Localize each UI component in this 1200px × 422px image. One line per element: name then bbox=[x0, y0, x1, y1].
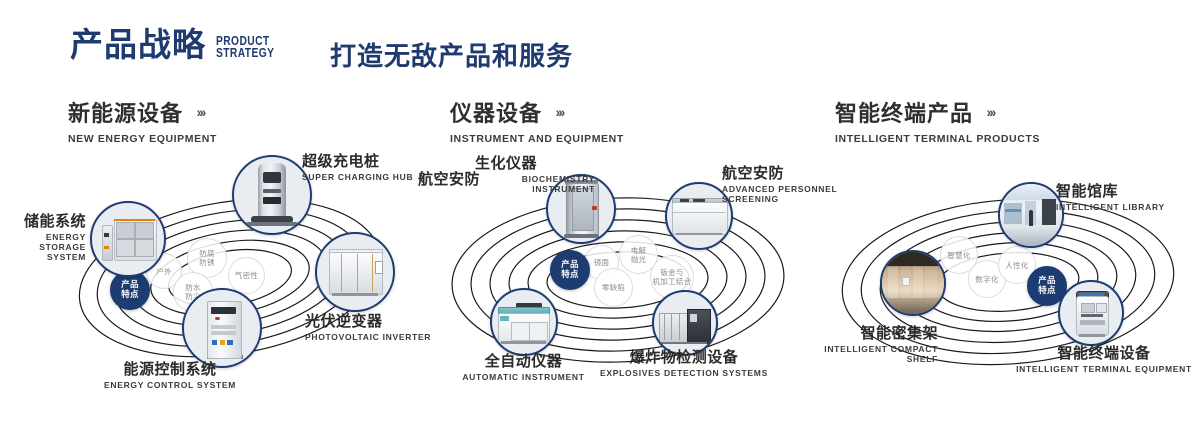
page-subtitle: 打造无敌产品和服务 bbox=[330, 36, 573, 73]
node-intelligent-terminal-equipment[interactable] bbox=[1058, 280, 1124, 346]
product-strategy-infographic: 产品战略 PRODUCT STRATEGY 打造无敌产品和服务 新能源设备 ››… bbox=[0, 0, 1200, 422]
section-title-en: INSTRUMENT AND EQUIPMENT bbox=[450, 133, 624, 145]
caption-en: EXPLOSIVES DETECTION SYSTEMS bbox=[588, 368, 780, 378]
node-super-charging-hub[interactable] bbox=[232, 155, 312, 235]
chevrons-right-icon: ››› bbox=[196, 104, 204, 120]
core-feature-bubble: 产品 特点 bbox=[550, 250, 590, 290]
node-photovoltaic-inverter[interactable] bbox=[315, 232, 395, 312]
node-energy-storage-system[interactable] bbox=[90, 201, 166, 277]
section-title-en: INTELLIGENT TERMINAL PRODUCTS bbox=[835, 133, 1040, 145]
caption-aviation-security-left: 航空安防 bbox=[400, 168, 480, 189]
page-title-cn: 产品战略 bbox=[70, 28, 206, 61]
caption-biochemistry-instrument: 生化仪器 BIOCHEMISTRY INSTRUMENT bbox=[475, 152, 595, 194]
section-title-intelligent-terminal: 智能终端产品 ››› INTELLIGENT TERMINAL PRODUCTS bbox=[835, 96, 1040, 145]
diagram-new-energy: 防腐 防锈 户外 防水 防尘 气密性 产品 特点 储能系统 ENERGY STO… bbox=[40, 150, 420, 412]
caption-intelligent-terminal-equipment: 智能终端设备 INTELLIGENT TERMINAL EQUIPMENT bbox=[1008, 342, 1200, 374]
feature-bubble: 气密性 bbox=[228, 257, 265, 294]
charging-pile-icon bbox=[234, 157, 310, 233]
caption-intelligent-compact-shelf: 智能密集架 INTELLIGENT COMPACT SHELF bbox=[808, 322, 938, 364]
caption-en: ENERGY STORAGE SYSTEM bbox=[0, 232, 86, 262]
caption-intelligent-library: 智能馆库 INTELLIGENT LIBRARY bbox=[1056, 180, 1200, 212]
caption-en: ENERGY CONTROL SYSTEM bbox=[80, 380, 260, 390]
explosives-detector-icon bbox=[654, 292, 716, 354]
caption-en: INTELLIGENT COMPACT SHELF bbox=[808, 344, 938, 364]
caption-en: INTELLIGENT LIBRARY bbox=[1056, 202, 1200, 212]
caption-explosives-detection-systems: 爆炸物检测设备 EXPLOSIVES DETECTION SYSTEMS bbox=[588, 346, 780, 378]
node-intelligent-library[interactable] bbox=[998, 182, 1064, 248]
caption-cn: 爆炸物检测设备 bbox=[588, 346, 780, 367]
caption-cn: 能源控制系统 bbox=[80, 358, 260, 379]
energy-storage-cabinet-icon bbox=[92, 203, 164, 275]
section-title-en: NEW ENERGY EQUIPMENT bbox=[68, 133, 217, 145]
node-automatic-instrument[interactable] bbox=[490, 288, 558, 356]
library-photo-icon bbox=[1000, 184, 1062, 246]
section-title-cn: 新能源设备 bbox=[68, 96, 183, 128]
page-title-en-line2: STRATEGY bbox=[216, 48, 274, 60]
inverter-icon bbox=[317, 234, 393, 310]
caption-cn: 航空安防 bbox=[400, 168, 480, 189]
caption-cn: 智能终端设备 bbox=[1008, 342, 1200, 363]
node-energy-control-system[interactable] bbox=[182, 288, 262, 368]
caption-en: BIOCHEMISTRY INSTRUMENT bbox=[475, 174, 595, 194]
caption-cn: 生化仪器 bbox=[475, 152, 595, 173]
section-title-new-energy: 新能源设备 ››› NEW ENERGY EQUIPMENT bbox=[68, 96, 217, 145]
caption-cn: 智能馆库 bbox=[1056, 180, 1200, 201]
caption-en: INTELLIGENT TERMINAL EQUIPMENT bbox=[1008, 364, 1200, 374]
caption-cn: 全自动仪器 bbox=[436, 350, 611, 371]
compact-shelf-photo-icon bbox=[882, 252, 944, 314]
caption-energy-control-system: 能源控制系统 ENERGY CONTROL SYSTEM bbox=[80, 358, 260, 390]
caption-cn: 储能系统 bbox=[0, 210, 86, 231]
automatic-analyzer-icon bbox=[492, 290, 556, 354]
terminal-kiosk-icon bbox=[1060, 282, 1122, 344]
page-title: 产品战略 PRODUCT STRATEGY bbox=[70, 28, 287, 61]
chevrons-right-icon: ››› bbox=[986, 104, 994, 120]
control-cabinet-icon bbox=[184, 290, 260, 366]
feature-bubble: 零缺陷 bbox=[594, 268, 633, 307]
section-title-cn: 仪器设备 bbox=[450, 96, 542, 128]
diagram-intelligent-terminal: 智慧化 数字化 人性化 产品 特点 智能馆库 INTELLIGENT LIBRA… bbox=[818, 150, 1200, 412]
caption-automatic-instrument: 全自动仪器 AUTOMATIC INSTRUMENT bbox=[436, 350, 611, 382]
caption-energy-storage-system: 储能系统 ENERGY STORAGE SYSTEM bbox=[0, 210, 86, 262]
caption-cn: 智能密集架 bbox=[808, 322, 938, 343]
chevrons-right-icon: ››› bbox=[555, 104, 563, 120]
caption-en: AUTOMATIC INSTRUMENT bbox=[436, 372, 611, 382]
page-title-en: PRODUCT STRATEGY bbox=[216, 36, 274, 59]
section-title-instrument: 仪器设备 ››› INSTRUMENT AND EQUIPMENT bbox=[450, 96, 624, 145]
node-intelligent-compact-shelf[interactable] bbox=[880, 250, 946, 316]
diagram-instrument: 镜面 电解 抛光 零缺陷 钣金与 机加工结合 产品 特点 航空安防 生化仪器 B… bbox=[420, 150, 820, 412]
section-title-cn: 智能终端产品 bbox=[835, 96, 973, 128]
